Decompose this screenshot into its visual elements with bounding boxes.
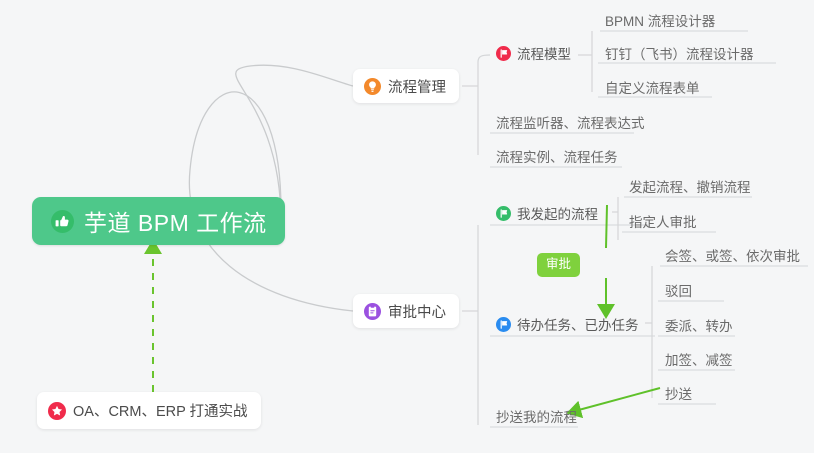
node-cc-to-me-process[interactable]: 抄送我的流程 (491, 406, 581, 429)
node-label: 加签、减签 (665, 349, 733, 369)
node-label: 会签、或签、依次审批 (665, 245, 800, 265)
node-label: 待办任务、已办任务 (517, 314, 639, 334)
flag-icon (496, 206, 511, 221)
node-countersign-or-sequential[interactable]: 会签、或签、依次审批 (660, 245, 804, 268)
node-reject[interactable]: 驳回 (660, 280, 696, 303)
branch-node-process-management[interactable]: 流程管理 (353, 69, 459, 103)
node-label: 抄送 (665, 383, 692, 403)
lightbulb-icon (364, 78, 381, 95)
flag-icon (496, 46, 511, 61)
node-delegate-transfer[interactable]: 委派、转办 (660, 315, 737, 338)
process-management-edges (462, 55, 490, 155)
node-label: 流程实例、流程任务 (496, 146, 618, 166)
node-bpmn-designer[interactable]: BPMN 流程设计器 (600, 10, 719, 33)
node-dingtalk-feishu-designer[interactable]: 钉钉（飞书）流程设计器 (600, 43, 758, 66)
cc-relation-arrow (575, 388, 660, 411)
node-label: 流程监听器、流程表达式 (496, 112, 645, 132)
node-label: 驳回 (665, 280, 692, 300)
node-label: 发起流程、撤销流程 (629, 176, 751, 196)
my-initiated-edges (612, 197, 618, 240)
todo-done-edges (645, 266, 652, 398)
node-custom-process-form[interactable]: 自定义流程表单 (600, 77, 704, 100)
node-label: BPMN 流程设计器 (605, 10, 715, 30)
node-label: 委派、转办 (665, 315, 733, 335)
branch-node-approval-center[interactable]: 审批中心 (353, 294, 459, 328)
process-model-edges (578, 31, 592, 92)
node-process-model[interactable]: 流程模型 (491, 43, 575, 66)
node-add-remove-sign[interactable]: 加签、减签 (660, 349, 737, 372)
node-my-initiated-process[interactable]: 我发起的流程 (491, 203, 602, 226)
node-process-listener-expression[interactable]: 流程监听器、流程表达式 (491, 112, 649, 135)
node-todo-done-tasks[interactable]: 待办任务、已办任务 (491, 314, 643, 337)
node-start-cancel-process[interactable]: 发起流程、撤销流程 (624, 176, 755, 199)
approval-annotation-label: 审批 (546, 257, 571, 271)
approval-flow-arrow (606, 205, 607, 310)
bottom-node-label: OA、CRM、ERP 打通实战 (73, 400, 248, 421)
branch-label: 流程管理 (388, 76, 446, 97)
node-process-instance-task[interactable]: 流程实例、流程任务 (491, 146, 622, 169)
node-label: 指定人审批 (629, 211, 697, 231)
node-label: 我发起的流程 (517, 203, 598, 223)
star-icon (48, 402, 66, 420)
flag-icon (496, 317, 511, 332)
node-label: 流程模型 (517, 43, 571, 63)
node-cc[interactable]: 抄送 (660, 383, 696, 406)
root-branch-edges (189, 65, 353, 311)
mindmap-canvas: 芋道 BPM 工作流 流程管理 流程模型 BPMN 流程设计器 钉钉（飞书）流程 (0, 0, 814, 453)
clipboard-icon (364, 303, 381, 320)
node-label: 抄送我的流程 (496, 406, 577, 426)
root-node[interactable]: 芋道 BPM 工作流 (32, 197, 285, 245)
approval-center-edges (462, 225, 478, 425)
node-label: 钉钉（飞书）流程设计器 (605, 43, 754, 63)
node-label: 自定义流程表单 (605, 77, 700, 97)
thumbs-up-icon (50, 209, 75, 234)
node-assignee-approval[interactable]: 指定人审批 (624, 211, 701, 234)
branch-label: 审批中心 (388, 301, 446, 322)
approval-annotation-tag: 审批 (537, 253, 580, 277)
bottom-node-oa-crm-erp[interactable]: OA、CRM、ERP 打通实战 (37, 392, 261, 429)
root-label: 芋道 BPM 工作流 (84, 204, 267, 238)
